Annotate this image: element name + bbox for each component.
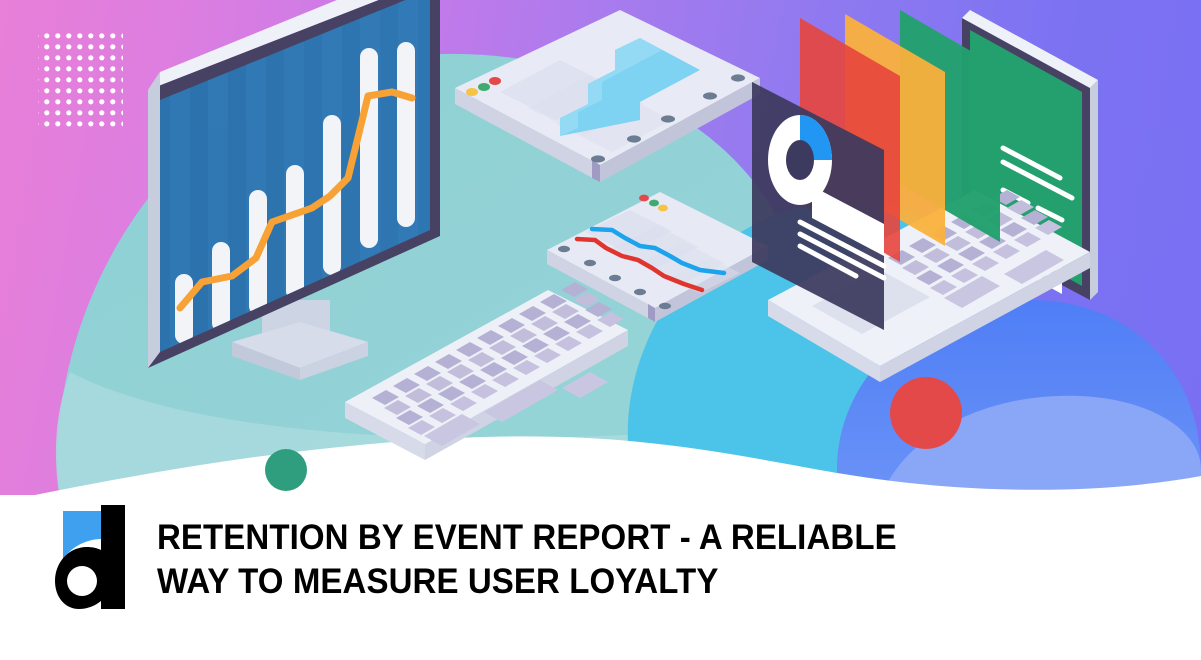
screen-bar-2: [212, 242, 230, 332]
traffic-dot-yellow-icon: [466, 88, 478, 96]
red-circle-accent: [890, 377, 962, 449]
dot-grid-pattern: [38, 33, 123, 129]
monitor-frame-left: [148, 72, 160, 368]
donut-hole: [786, 140, 814, 180]
screen-bar-7: [397, 42, 415, 227]
laptop-bezel-right: [1090, 80, 1098, 300]
traffic-dot-red-icon: [489, 77, 501, 85]
hero-illustration: [0, 0, 1201, 500]
poster-canvas: RETENTION BY EVENT REPORT - A RELIABLE W…: [0, 0, 1201, 660]
illustration-svg: [0, 0, 1201, 500]
traffic-dot-yellow-icon: [658, 205, 668, 212]
devrims-d-logo[interactable]: [55, 505, 131, 609]
traffic-dot-green-icon: [478, 83, 490, 91]
traffic-dot-green-icon: [649, 200, 659, 207]
green-circle-accent: [265, 449, 307, 491]
screen-bar-6: [360, 48, 378, 248]
logo-d-counter: [67, 566, 97, 596]
screen-bar-4: [286, 165, 304, 300]
title-block: RETENTION BY EVENT REPORT - A RELIABLE W…: [0, 495, 1201, 660]
page-title: RETENTION BY EVENT REPORT - A RELIABLE W…: [157, 515, 897, 603]
traffic-dot-red-icon: [639, 195, 649, 202]
